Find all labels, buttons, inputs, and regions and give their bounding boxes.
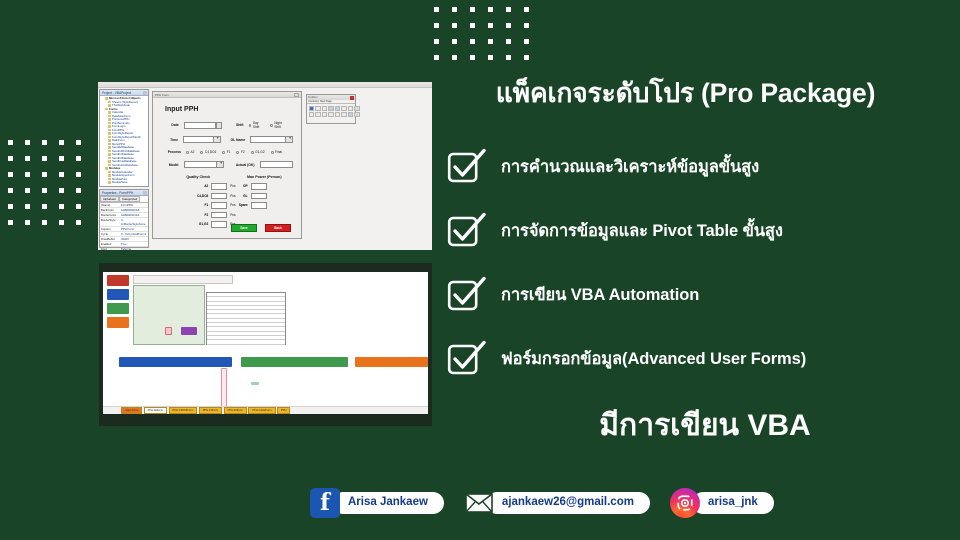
dot [524,23,529,28]
save-button[interactable]: Save [231,224,257,232]
select-tool-icon[interactable] [309,106,315,112]
quality-check-row: F2Pcs [161,212,236,219]
dot [524,55,529,60]
dot [488,23,493,28]
sheet-tab[interactable]: PPH-C4DC6Form [169,407,198,414]
dot [76,204,81,209]
quality-check-row: A2Pcs [161,183,236,190]
dot [59,156,64,161]
checkbox-check-icon [447,340,487,378]
excel-status-bar [103,414,428,422]
back-button[interactable]: Back [265,224,291,232]
property-row[interactable]: FontTahoma [100,247,148,250]
property-value: Tahoma [120,247,148,250]
dot [506,23,511,28]
dot [452,39,457,44]
dot [8,172,13,177]
sheet-tab[interactable]: PPH-F1Form [199,407,222,414]
process-label: Process [161,150,181,154]
man-power-rows: OPGLSpare [236,183,293,209]
dot [506,7,511,12]
excel-workbook-screenshot: Open FormPPH-A2FormPPH-C4DC6FormPPH-F1Fo… [99,263,432,426]
feature-label: ฟอร์มกรอกข้อมูล(Advanced User Forms) [501,346,806,372]
project-tree[interactable]: Microsoft Excel ObjectsSheet1 (StyleRepo… [100,96,148,185]
data-table-block [206,292,286,345]
togglebutton-tool-icon[interactable] [354,106,360,112]
process-radio-4[interactable]: G1,G2 [251,150,265,154]
mp-label: GL [236,194,248,198]
contact-bar: f Arisa Jankaew ajankaew26@gmail.com [310,487,794,519]
qc-input[interactable] [211,221,227,228]
dot [524,39,529,44]
properties-pane-header: Properties - FormPPH [100,190,148,196]
dot [42,140,47,145]
macro-button[interactable] [107,289,129,300]
checkbox-check-icon [447,148,487,186]
checkbox-tool-icon[interactable] [341,106,347,112]
macro-button[interactable] [107,317,129,328]
email-envelope-icon[interactable] [464,488,494,518]
combobox-tool-icon[interactable] [328,106,334,112]
dot [25,220,30,225]
feature-label: การเขียน VBA Automation [501,282,699,308]
property-name: BackColor [100,208,120,212]
spinbutton-tool-icon[interactable] [341,112,347,118]
process-radio-2[interactable]: F1 [222,150,230,154]
banner-bar-blue [119,357,232,367]
checkbox-check-icon [447,212,487,250]
dot [42,204,47,209]
property-name: (Name) [100,203,120,207]
shift-radio-night[interactable]: Night Shift [270,121,287,129]
mp-label: Spare [236,203,248,207]
form-row-model: Model Actual (OK) [161,161,293,168]
time-combobox[interactable] [183,136,221,143]
dot [470,55,475,60]
project-explorer-pane: Project - VBAProject Microsoft Excel Obj… [99,89,149,187]
banner-bar-orange [355,357,428,367]
sheet-tab-bar[interactable]: Open FormPPH-A2FormPPH-C4DC6FormPPH-F1Fo… [103,406,428,414]
dot [434,23,439,28]
subtitle: มีการเขียน VBA [495,402,915,449]
project-pane-header: Project - VBAProject [100,90,148,96]
mini-ribbon [133,275,233,284]
sheet-tab[interactable]: PPH-A2Form [144,407,167,414]
property-value: PPH Form [120,227,148,231]
instagram-handle[interactable]: arisa_jnk [692,492,774,515]
qc-label: F2 [192,213,208,217]
sheet-tab[interactable]: Open Form [121,407,142,414]
date-picker-button[interactable] [216,122,222,129]
contact-email[interactable]: ajankaew26@gmail.com [464,488,650,518]
toolbox-title: Toolbox [308,95,318,99]
form-row-time: Time GL Name [161,136,293,143]
slide-canvas: Project - VBAProject Microsoft Excel Obj… [0,0,960,540]
property-name: Enabled [100,242,120,246]
man-power-row: Spare [236,202,293,209]
dot [434,55,439,60]
form-row-process: Process A2 C4,DC6 F1 F2 G1,G2 Final [161,150,293,154]
actual-ok-label: Actual (OK) [230,163,255,167]
minimize-icon[interactable] [294,93,299,97]
vba-editor-screenshot: Project - VBAProject Microsoft Excel Obj… [98,82,432,250]
quality-check-row: C4,DC6Pcs [161,193,236,200]
feature-item: การคำนวณและวิเคราะห์ข้อมูลขั้นสูง [447,146,947,188]
dot [488,7,493,12]
refedit-tool-icon[interactable] [354,112,360,118]
dot [25,188,30,193]
page-title: แพ็คเกจระดับโปร (Pro Package) [453,72,918,114]
actual-ok-input[interactable] [260,161,294,168]
dot [59,172,64,177]
process-radio-0[interactable]: A2 [186,150,194,154]
feature-item: ฟอร์มกรอกข้อมูล(Advanced User Forms) [447,338,947,380]
userform-title: Input PPH [165,106,293,113]
mp-input[interactable] [251,193,267,200]
userform-designer: PPH Form Input PPH Date Shift Day Shift … [152,91,302,239]
date-input[interactable] [184,122,216,129]
image-tool-icon[interactable] [348,112,354,118]
tree-item[interactable]: ModuleSave [103,181,148,185]
properties-tab[interactable]: Categorized [119,196,140,202]
dot [8,188,13,193]
dot [8,140,13,145]
property-name: BorderStyle [100,218,120,226]
man-power-row: OP [236,183,293,190]
dot [59,140,64,145]
dot [506,55,511,60]
properties-tab[interactable]: Alphabetic [100,196,119,202]
dot [524,7,529,12]
dot [434,7,439,12]
qc-input[interactable] [211,212,227,219]
optionbutton-tool-icon[interactable] [348,106,354,112]
facebook-handle[interactable]: Arisa Jankaew [332,492,444,515]
property-value: &H80000012& [120,213,148,217]
property-name: BorderColor [100,213,120,217]
man-power-header: Man Power (Person) [236,175,293,179]
properties-pane: Properties - FormPPH AlphabeticCategoriz… [99,189,149,248]
form-row-date: Date Shift Day Shift Night Shift [161,121,293,129]
dot-pattern-left [8,140,93,236]
process-radio-5[interactable]: Final [271,150,282,154]
process-radio-1[interactable]: C4,DC6 [200,150,216,154]
facebook-icon[interactable]: f [310,488,340,518]
dot [25,172,30,177]
feature-item: การเขียน VBA Automation [447,274,947,316]
property-name: DrawBuffer [100,237,120,241]
checkbox-check-icon [447,276,487,314]
frame-tool-icon[interactable] [309,112,315,118]
excel-worksheet-area [103,272,428,406]
quality-check-header: Quality Check [161,175,236,179]
qc-label: A2 [192,184,208,188]
dot [470,23,475,28]
dot [76,172,81,177]
purple-button [181,327,197,335]
contact-facebook[interactable]: f Arisa Jankaew [310,488,444,518]
shift-radio-day[interactable]: Day Shift [249,121,264,129]
dot [434,39,439,44]
qc-label: F1 [192,203,208,207]
label-tool-icon[interactable] [315,106,321,112]
close-icon[interactable] [350,96,354,100]
macro-button[interactable] [107,303,129,314]
quality-check-row: G1,G2Pcs [161,221,236,228]
listbox-tool-icon[interactable] [335,106,341,112]
report-sheet-block [133,285,205,345]
property-value: True [120,242,148,246]
property-value: 0 - fmCycleAllForms [120,232,148,236]
property-name: Cycle [100,232,120,236]
qc-input[interactable] [211,193,227,200]
dot [8,156,13,161]
sheet-tab[interactable]: PPH [277,407,290,414]
dot [42,188,47,193]
dot [506,39,511,44]
toolbox-panel: Toolbox Controls | New Page [306,94,356,124]
date-label: Date [161,123,179,127]
sheet-tab[interactable]: PPH-G1G2Form [248,407,275,414]
dot [25,204,30,209]
feature-item: การจัดการข้อมูลและ Pivot Table ขั้นสูง [447,210,947,252]
dot [488,39,493,44]
dot-pattern-top [434,7,542,71]
tabstrip-tool-icon[interactable] [322,112,328,118]
shift-label: Shift [229,123,243,127]
gl-name-combobox[interactable] [250,136,293,143]
dot [25,140,30,145]
dot [59,220,64,225]
dot [8,220,13,225]
property-row[interactable]: BorderStyle0 - fmBorderStyleNone [100,218,148,227]
time-label: Time [161,138,178,142]
feature-list: การคำนวณและวิเคราะห์ข้อมูลขั้นสูงการจัดก… [447,146,947,380]
dot [452,55,457,60]
quality-check-rows: A2PcsC4,DC6PcsF1PcsF2PcsG1,G2Pcs [161,183,236,228]
qc-label: C4,DC6 [192,194,208,198]
qc-label: G1,G2 [192,222,208,226]
userform-window-title: PPH Form [155,93,169,97]
dot [76,156,81,161]
dot [470,7,475,12]
project-pane-title: Project - VBAProject [102,91,131,95]
properties-rows: (Name)FormPPHBackColor&H8000000F&BorderC… [100,203,148,250]
textbox-tool-icon[interactable] [322,106,328,112]
feature-label: การคำนวณและวิเคราะห์ข้อมูลขั้นสูง [501,154,759,180]
banner-bar-green [241,357,348,367]
quality-check-row: F1Pcs [161,202,236,209]
sheet-tab[interactable]: PPH-F2Form [224,407,247,414]
feature-label: การจัดการข้อมูลและ Pivot Table ขั้นสูง [501,218,783,244]
property-value: &H8000000F& [120,208,148,212]
property-value: 32000 [120,237,148,241]
mp-input[interactable] [251,183,267,190]
dot [42,220,47,225]
small-green-cell [251,382,259,385]
email-address[interactable]: ajankaew26@gmail.com [486,492,650,515]
commandbutton-tool-icon[interactable] [315,112,321,118]
gl-name-label: GL Name [227,138,246,142]
toolbox-controls-grid[interactable] [307,104,355,119]
multipage-tool-icon[interactable] [328,112,334,118]
close-icon[interactable] [143,91,147,95]
man-power-row: GL [236,193,293,200]
properties-tabs[interactable]: AlphabeticCategorized [100,196,148,203]
toolbox-header: Toolbox [307,95,355,100]
dot [76,140,81,145]
qc-input[interactable] [211,202,227,209]
dot [42,156,47,161]
model-label: Model [161,163,179,167]
property-value: 0 - fmBorderStyleNone [120,218,148,226]
dot [452,7,457,12]
dot [25,156,30,161]
property-value: FormPPH [120,203,148,207]
property-name: Font [100,247,120,250]
mp-label: OP [236,184,248,188]
dot [76,188,81,193]
instagram-icon[interactable] [670,488,700,518]
scrollbar-tool-icon[interactable] [335,112,341,118]
dot [76,220,81,225]
dot [470,39,475,44]
dot [8,204,13,209]
close-icon[interactable] [143,191,147,195]
process-radio-3[interactable]: F2 [236,150,244,154]
vbe-titlebar [98,82,432,88]
mp-input[interactable] [251,202,267,209]
dot [59,204,64,209]
contact-instagram[interactable]: arisa_jnk [670,488,774,518]
properties-pane-title: Properties - FormPPH [102,191,133,195]
dot [59,188,64,193]
dot [42,172,47,177]
dot [488,55,493,60]
selection-column [221,368,227,406]
pink-marker [165,327,172,335]
property-name: Caption [100,227,120,231]
model-combobox[interactable] [184,161,225,168]
dot [452,23,457,28]
qc-input[interactable] [211,183,227,190]
macro-button[interactable] [107,275,129,286]
